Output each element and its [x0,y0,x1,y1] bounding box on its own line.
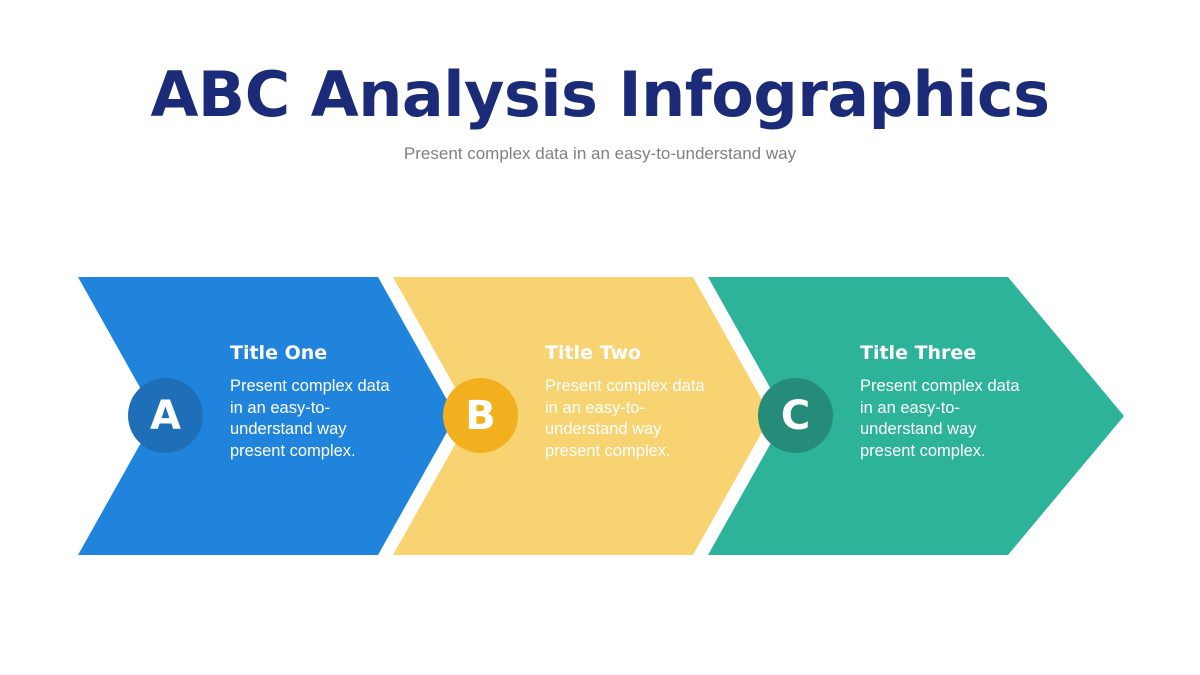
step-item-c[interactable]: C Title Three Present complex data in an… [758,277,1088,555]
step-title-a: Title One [230,343,445,364]
step-badge-a: A [128,378,203,453]
step-text-b: Title Two Present complex data in an eas… [545,343,760,463]
step-item-a[interactable]: A Title One Present complex data in an e… [128,277,458,555]
page-title: ABC Analysis Infographics [0,64,1200,126]
step-body-c: Present complex data in an easy-to-under… [860,376,1035,463]
infographic-slide: ABC Analysis Infographics Present comple… [0,0,1200,675]
step-letter-c: C [781,396,810,436]
step-text-c: Title Three Present complex data in an e… [860,343,1075,463]
steps-layer: A Title One Present complex data in an e… [0,277,1200,555]
step-title-b: Title Two [545,343,760,364]
step-badge-c: C [758,378,833,453]
step-item-b[interactable]: B Title Two Present complex data in an e… [443,277,773,555]
step-letter-b: B [465,396,496,436]
slide-header: ABC Analysis Infographics Present comple… [0,64,1200,164]
step-title-c: Title Three [860,343,1075,364]
step-badge-b: B [443,378,518,453]
step-body-b: Present complex data in an easy-to-under… [545,376,720,463]
step-letter-a: A [150,396,181,436]
step-text-a: Title One Present complex data in an eas… [230,343,445,463]
step-body-a: Present complex data in an easy-to-under… [230,376,405,463]
page-subtitle: Present complex data in an easy-to-under… [0,144,1200,164]
